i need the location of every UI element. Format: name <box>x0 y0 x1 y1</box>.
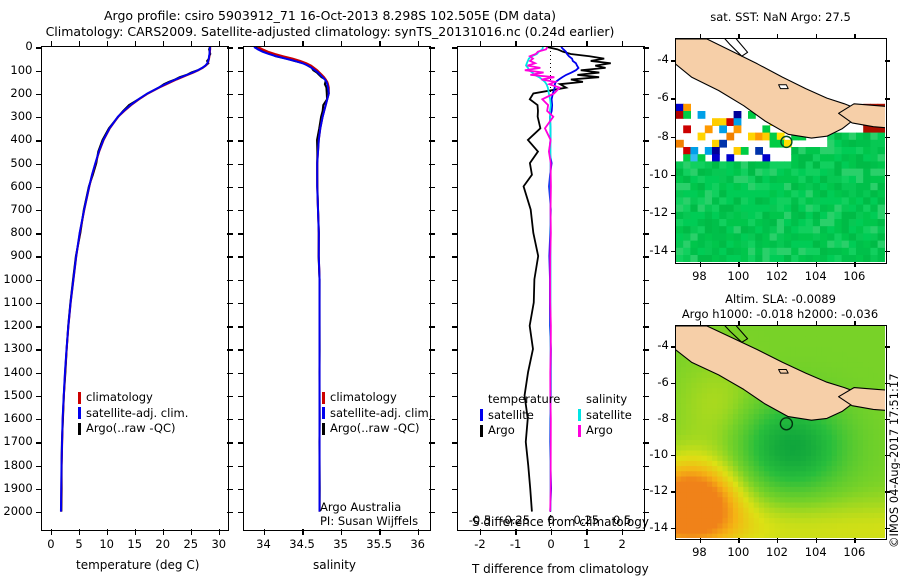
legend-item: satellite <box>480 408 560 424</box>
tick-label: 100 <box>727 545 749 559</box>
tick-label: -10 <box>649 447 668 461</box>
annotation-line-1: Argo Australia <box>320 500 418 514</box>
tick-label: 0 <box>25 39 32 53</box>
copyright-notice: ©IMOS 04-Aug-2017 17:51:17 <box>873 330 893 550</box>
legend-item-label: climatology <box>330 390 397 406</box>
figure-title: Argo profile: csiro 5903912_71 16-Oct-20… <box>0 8 660 40</box>
sla-map-title-line-2: Argo h1000: -0.018 h2000: -0.036 <box>660 307 900 321</box>
tick-label: 104 <box>805 269 827 283</box>
tick-label: 100 <box>727 269 749 283</box>
legend-color-swatch <box>322 392 325 404</box>
copyright-text: ©IMOS 04-Aug-2017 17:51:17 <box>887 373 900 548</box>
legend-item: Argo <box>578 423 632 439</box>
tick-label: -12 <box>649 483 668 497</box>
tick-label: 0 <box>547 537 554 551</box>
annotation-line-2: PI: Susan Wijffels <box>320 514 418 528</box>
tick-label: 1500 <box>3 388 32 402</box>
legend-item-label: satellite <box>586 408 632 424</box>
tick-label: -6 <box>657 375 668 389</box>
figure-canvas: Argo profile: csiro 5903912_71 16-Oct-20… <box>0 0 900 580</box>
legend-item-label: Argo(..raw -QC) <box>86 421 176 437</box>
tick-label: 30 <box>211 537 226 551</box>
legend-item-label: Argo(..raw -QC) <box>330 421 420 437</box>
tick-label: -14 <box>649 520 668 534</box>
title-line-2: Climatology: CARS2009. Satellite-adjuste… <box>0 24 660 40</box>
tick-label: 102 <box>766 269 788 283</box>
tick-label: -6 <box>657 90 668 104</box>
tick-label: 98 <box>692 545 707 559</box>
tick-label: 35.5 <box>366 537 392 551</box>
tick-label: 104 <box>805 545 827 559</box>
tick-label: 100 <box>10 63 32 77</box>
tick-label: 1100 <box>3 295 32 309</box>
tick-label: 0 <box>47 537 54 551</box>
legend-color-swatch <box>78 392 81 404</box>
salinity-panel-annotation: Argo Australia PI: Susan Wijffels <box>320 500 418 528</box>
tick-label: 102 <box>766 545 788 559</box>
legend-item: satellite <box>578 408 632 424</box>
tick-label: 106 <box>843 269 865 283</box>
legend-color-swatch <box>78 407 81 419</box>
tick-label: 34 <box>256 537 271 551</box>
legend-color-swatch <box>322 407 325 419</box>
tick-label: 1800 <box>3 458 32 472</box>
sst-map-field <box>676 39 885 262</box>
tick-label: 700 <box>10 202 32 216</box>
salinity-legend: climatologysatellite-adj. clim.Argo(..ra… <box>322 390 432 437</box>
legend-item-label: satellite-adj. clim. <box>330 406 432 422</box>
tick-label: 34.5 <box>289 537 315 551</box>
tick-label: 20 <box>155 537 170 551</box>
tick-label: -1 <box>510 537 521 551</box>
tick-label: 600 <box>10 179 32 193</box>
tick-label: -12 <box>649 205 668 219</box>
sla-map-panel <box>675 325 887 540</box>
legend-item: climatology <box>322 390 432 406</box>
tick-label: -8 <box>657 411 668 425</box>
legend-item: climatology <box>78 390 188 406</box>
sla-map-field <box>676 326 885 538</box>
tick-label: 500 <box>10 156 32 170</box>
tick-label: -14 <box>649 243 668 257</box>
legend-header: temperature <box>480 392 560 408</box>
tick-label: 98 <box>692 269 707 283</box>
legend-color-swatch <box>578 425 581 437</box>
temperature-plot-lines <box>42 47 227 529</box>
legend-color-swatch <box>78 423 81 435</box>
legend-item-label: Argo <box>488 423 515 439</box>
legend-item-label: satellite <box>488 408 534 424</box>
tick-label: 1300 <box>3 341 32 355</box>
legend-color-swatch <box>578 409 581 421</box>
tick-label: 1 <box>583 537 590 551</box>
temperature-panel <box>41 46 229 531</box>
sla-map-title-line-1: Altim. SLA: -0.0089 <box>673 292 888 306</box>
sst-map-title: sat. SST: NaN Argo: 27.5 <box>673 10 888 24</box>
legend-color-swatch <box>480 409 483 421</box>
tick-label: 1000 <box>3 272 32 286</box>
legend-header: salinity <box>578 392 632 408</box>
legend-item-label: Argo <box>586 423 613 439</box>
tick-label: 15 <box>127 537 142 551</box>
tick-label: 1400 <box>3 365 32 379</box>
tick-label: 200 <box>10 86 32 100</box>
tick-label: 900 <box>10 248 32 262</box>
legend-item-label: climatology <box>86 390 153 406</box>
tick-label: -2 <box>474 537 485 551</box>
legend-item-label: satellite-adj. clim. <box>86 406 188 422</box>
tick-label: -4 <box>657 338 668 352</box>
legend-item: Argo(..raw -QC) <box>322 421 432 437</box>
salinity-axis-label: salinity <box>313 558 356 572</box>
difference-panel <box>457 46 645 531</box>
tick-label: 25 <box>183 537 198 551</box>
temperature-axis-label: temperature (deg C) <box>76 558 199 572</box>
difference-legend-temperature: temperaturesatelliteArgo <box>480 392 560 439</box>
legend-color-swatch <box>322 423 325 435</box>
tick-label: 1200 <box>3 318 32 332</box>
legend-color-swatch <box>480 425 483 437</box>
tick-label: 2 <box>619 537 626 551</box>
tick-label: 1900 <box>3 481 32 495</box>
tick-label: 36 <box>410 537 425 551</box>
tick-label: 1600 <box>3 411 32 425</box>
tick-label: -8 <box>657 129 668 143</box>
sst-map-panel <box>675 38 887 264</box>
temperature-legend: climatologysatellite-adj. clim.Argo(..ra… <box>78 390 188 437</box>
tick-label: 10 <box>99 537 114 551</box>
legend-item: satellite-adj. clim. <box>322 406 432 422</box>
tick-label: 1700 <box>3 434 32 448</box>
tick-label: 400 <box>10 132 32 146</box>
tick-label: -10 <box>649 167 668 181</box>
tick-label: 35 <box>333 537 348 551</box>
salinity-plot-lines <box>244 47 429 529</box>
tick-label: 300 <box>10 109 32 123</box>
tick-label: 2000 <box>3 504 32 518</box>
tick-label: 5 <box>75 537 82 551</box>
salinity-difference-axis-label: S difference from climatology <box>472 515 649 529</box>
tick-label: 106 <box>843 545 865 559</box>
legend-item: Argo(..raw -QC) <box>78 421 188 437</box>
tick-label: 800 <box>10 225 32 239</box>
temperature-difference-axis-label: T difference from climatology <box>472 562 649 576</box>
difference-legend-salinity: salinitysatelliteArgo <box>578 392 632 439</box>
salinity-panel <box>243 46 431 531</box>
difference-plot-lines <box>458 47 643 529</box>
legend-item: satellite-adj. clim. <box>78 406 188 422</box>
title-line-1: Argo profile: csiro 5903912_71 16-Oct-20… <box>0 8 660 24</box>
legend-item: Argo <box>480 423 560 439</box>
tick-label: -4 <box>657 52 668 66</box>
